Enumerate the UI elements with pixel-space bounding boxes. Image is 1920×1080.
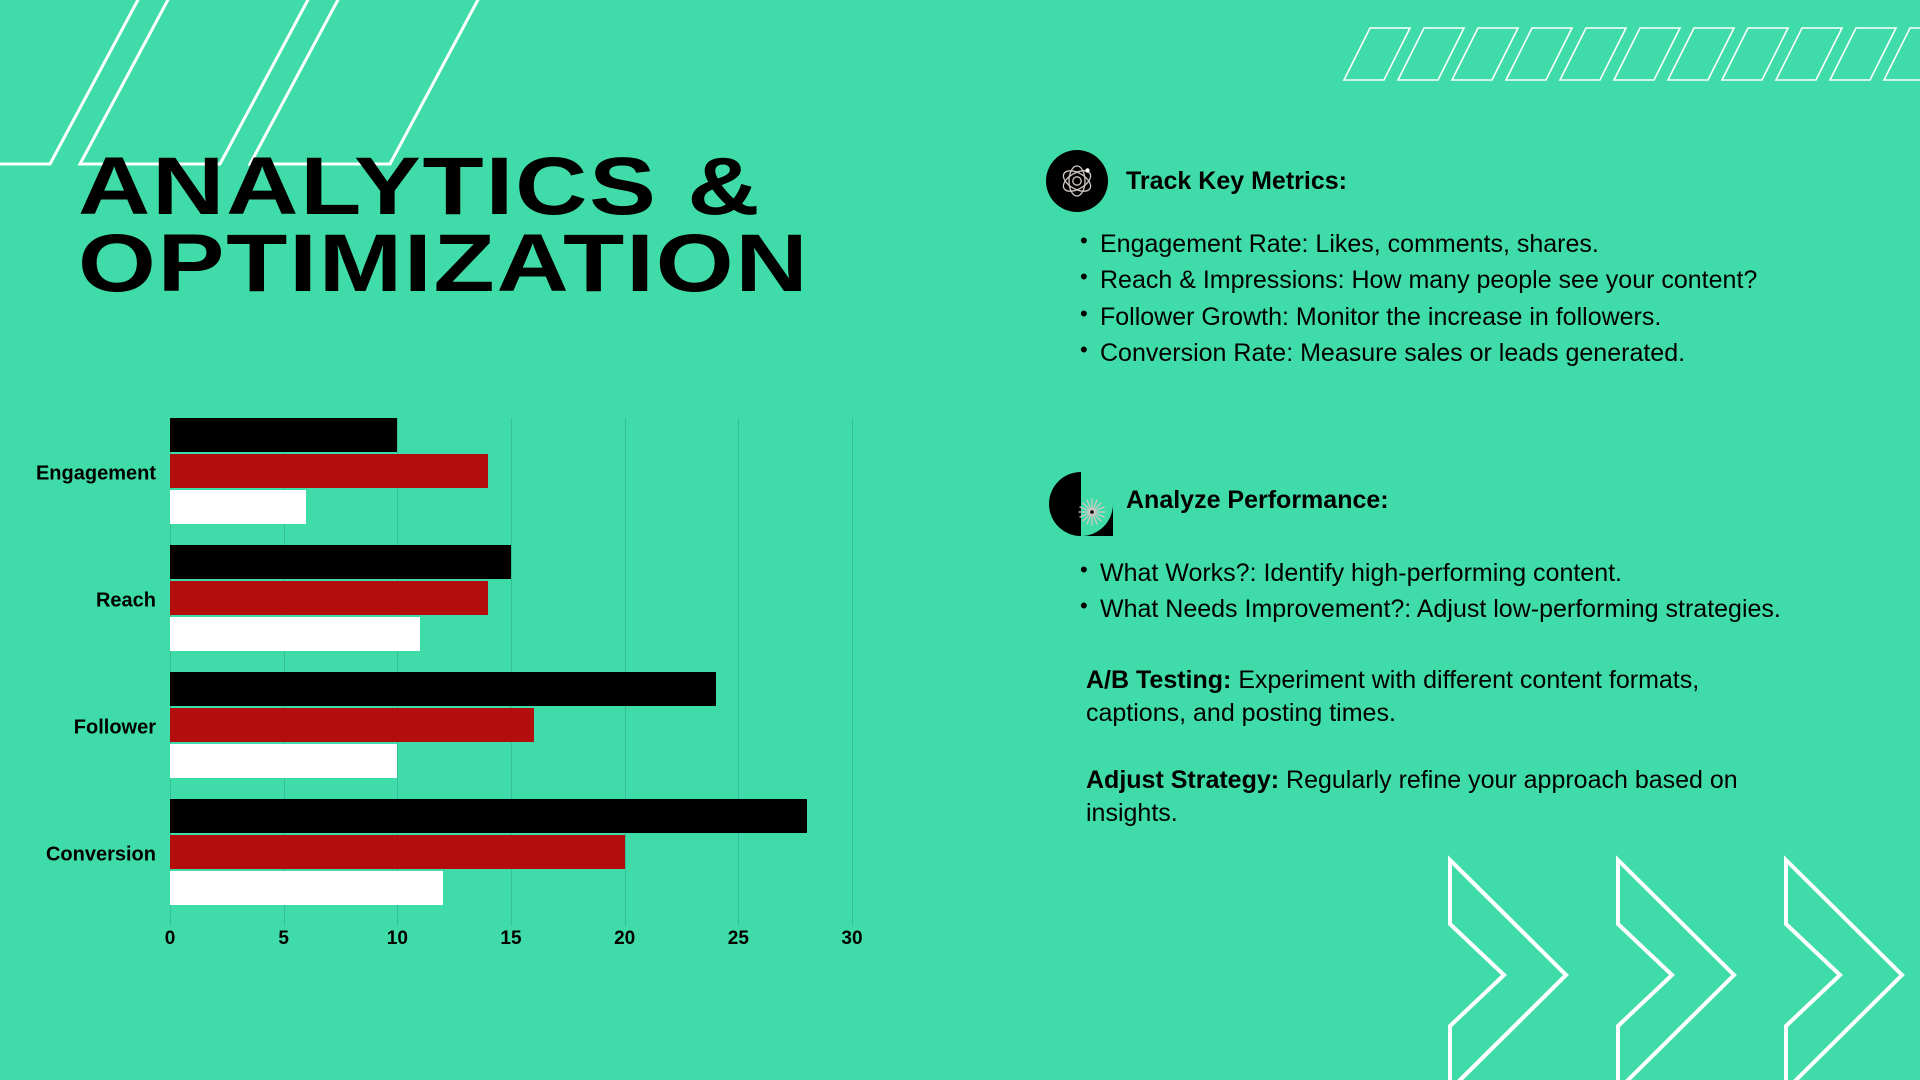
chart-bar: [170, 672, 716, 706]
chart-bar: [170, 835, 625, 869]
chart-bar: [170, 490, 306, 524]
list-item: Reach & Impressions: How many people see…: [1080, 264, 1876, 296]
chart-bar: [170, 617, 420, 651]
chart-x-tick-label: 30: [841, 928, 862, 950]
chart-x-tick-label: 0: [165, 928, 176, 950]
chevron-right-outline-icon: [1440, 850, 1920, 1080]
adjust-strategy-lead: Adjust Strategy:: [1086, 766, 1279, 794]
metrics-bar-chart: EngagementReachFollowerConversion 051015…: [0, 400, 900, 780]
chart-category-group: Conversion: [170, 799, 852, 911]
list-item: Engagement Rate: Likes, comments, shares…: [1080, 228, 1876, 260]
chart-category-group: Follower: [170, 672, 852, 784]
list-item: Follower Growth: Monitor the increase in…: [1080, 301, 1876, 333]
adjust-strategy-paragraph: Adjust Strategy: Regularly refine your a…: [1046, 764, 1786, 830]
chart-bar: [170, 871, 443, 905]
chart-category-label: Engagement: [36, 463, 156, 486]
section-title: Track Key Metrics:: [1126, 167, 1347, 196]
chart-category-group: Reach: [170, 545, 852, 657]
chart-x-tick-label: 5: [278, 928, 289, 950]
chart-category-label: Follower: [74, 717, 156, 740]
chart-plot-area: EngagementReachFollowerConversion: [170, 418, 852, 926]
chart-bar: [170, 799, 807, 833]
chart-bar: [170, 418, 397, 452]
list-item: Conversion Rate: Measure sales or leads …: [1080, 337, 1876, 369]
chart-bar: [170, 454, 488, 488]
chart-bar: [170, 545, 511, 579]
chart-category-group: Engagement: [170, 418, 852, 530]
list-item: What Needs Improvement?: Adjust low-perf…: [1080, 593, 1876, 625]
slide-canvas: ANALYTICS & OPTIMIZATION EngagementReach…: [0, 0, 1920, 1080]
page-title-line-1: ANALYTICS &: [78, 148, 1091, 225]
ab-testing-paragraph: A/B Testing: Experiment with different c…: [1046, 664, 1786, 730]
section-title: Analyze Performance:: [1126, 486, 1389, 515]
sparkle-burst-icon: [1046, 469, 1108, 531]
analyze-performance-list: What Works?: Identify high-performing co…: [1046, 557, 1876, 626]
chart-x-tick-label: 25: [728, 928, 749, 950]
chart-bar: [170, 744, 397, 778]
track-key-metrics-list: Engagement Rate: Likes, comments, shares…: [1046, 228, 1876, 369]
chart-bar: [170, 581, 488, 615]
chart-category-label: Conversion: [46, 844, 156, 867]
section-track-key-metrics: Track Key Metrics: Engagement Rate: Like…: [1046, 150, 1876, 369]
section-header: Track Key Metrics:: [1046, 150, 1876, 212]
section-analyze-performance: Analyze Performance: What Works?: Identi…: [1046, 469, 1876, 830]
atom-icon: [1046, 150, 1108, 212]
chart-category-label: Reach: [96, 590, 156, 613]
chart-x-axis: 051015202530: [170, 928, 852, 962]
parallelogram-outline-icon: [1340, 22, 1920, 102]
chart-x-tick-label: 10: [387, 928, 408, 950]
page-title: ANALYTICS & OPTIMIZATION: [78, 148, 908, 302]
chart-bar: [170, 708, 534, 742]
ab-testing-lead: A/B Testing:: [1086, 666, 1231, 694]
chart-gridline: [852, 418, 853, 926]
list-item: What Works?: Identify high-performing co…: [1080, 557, 1876, 589]
chart-x-tick-label: 20: [614, 928, 635, 950]
page-title-line-2: OPTIMIZATION: [78, 225, 1091, 302]
section-header: Analyze Performance:: [1046, 469, 1876, 531]
chart-x-tick-label: 15: [500, 928, 521, 950]
content-panel: Track Key Metrics: Engagement Rate: Like…: [1046, 150, 1876, 830]
